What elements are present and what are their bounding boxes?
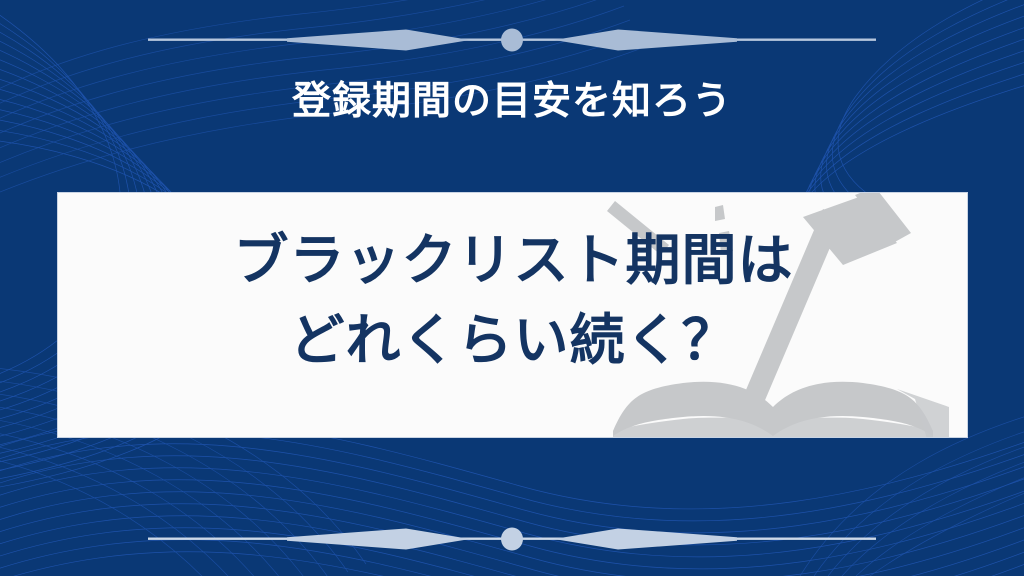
divider-line [148, 39, 876, 41]
divider-right-wing [554, 529, 737, 550]
card-title-line-2: どれくらい続く？ [58, 301, 968, 379]
diamond-circle-ornament [287, 29, 737, 52]
book-left-page [613, 382, 773, 436]
divider-left-wing [287, 529, 470, 550]
divider-center-dot [501, 528, 523, 551]
slide-canvas: 登録期間の目安を知ろう [0, 0, 1024, 576]
book-right-block [773, 407, 933, 438]
card-title-line-1: ブラックリスト期間は [58, 221, 968, 299]
headline-card: ブラックリスト期間は どれくらい続く？ [57, 192, 968, 438]
card-title: ブラックリスト期間は どれくらい続く？ [58, 221, 968, 379]
diamond-circle-ornament [287, 528, 737, 551]
top-divider [148, 20, 876, 60]
page-subtitle: 登録期間の目安を知ろう [0, 78, 1024, 127]
bottom-divider [148, 519, 876, 559]
book-left-block [613, 407, 773, 438]
book-right-page [773, 382, 933, 436]
divider-right-wing [554, 30, 737, 51]
book-cover-edge [897, 389, 949, 438]
divider-line [148, 538, 876, 540]
divider-left-wing [287, 30, 470, 51]
divider-center-dot [501, 29, 523, 52]
impact-dot-upper [715, 205, 725, 221]
